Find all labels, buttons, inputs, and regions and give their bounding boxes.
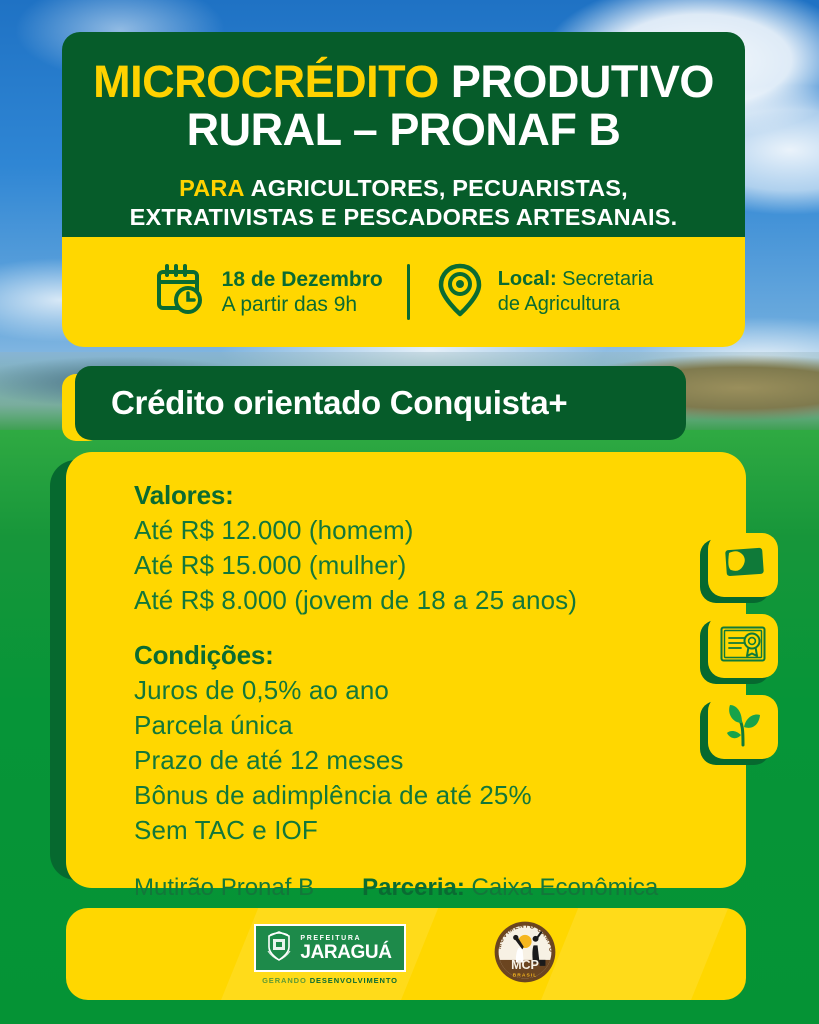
conditions-heading: Condições: xyxy=(134,640,712,671)
event-location-text: Local: Secretaria de Agricultura xyxy=(498,267,654,317)
credit-program-banner: Crédito orientado Conquista+ xyxy=(75,366,686,440)
seedling-icon xyxy=(722,703,764,752)
footer-logos-card: PREFEITURA JARAGUÁ GERANDO DESENVOLVIMEN… xyxy=(66,908,746,1000)
event-date-line2: A partir das 9h xyxy=(222,292,383,317)
partner-label: Parceria: xyxy=(362,874,465,901)
certificate-icon xyxy=(719,625,767,668)
conditions-line: Juros de 0,5% ao ano xyxy=(134,673,712,708)
page-subtitle: PARA AGRICULTORES, PECUARISTAS, EXTRATIV… xyxy=(88,174,719,232)
subtitle-highlight: PARA xyxy=(179,175,245,201)
jaragua-tagline: GERANDO DESENVOLVIMENTO xyxy=(254,976,405,985)
feature-icon-money xyxy=(700,533,778,603)
event-location-value: Secretaria xyxy=(557,268,654,290)
feature-icon-seedling xyxy=(700,695,778,765)
icon-chip-plate xyxy=(708,614,778,678)
values-line: Até R$ 12.000 (homem) xyxy=(134,513,712,548)
conditions-line: Bônus de adimplência de até 25% xyxy=(134,778,712,813)
event-location-line2: de Agricultura xyxy=(498,292,654,317)
event-location-block: Local: Secretaria de Agricultura xyxy=(410,262,678,323)
map-pin-icon xyxy=(434,262,486,323)
feature-icon-column xyxy=(700,533,778,776)
jaragua-coat-of-arms-icon xyxy=(266,931,292,966)
values-heading: Valores: xyxy=(134,480,712,511)
feature-icon-certificate xyxy=(700,614,778,684)
icon-chip-plate xyxy=(708,695,778,759)
values-line: Até R$ 8.000 (jovem de 18 a 25 anos) xyxy=(134,583,712,618)
main-card: Valores: Até R$ 12.000 (homem) Até R$ 15… xyxy=(66,452,746,888)
subtitle-line2: EXTRATIVISTAS E PESCADORES ARTESANAIS. xyxy=(130,204,678,230)
jaragua-logo-text: PREFEITURA JARAGUÁ xyxy=(300,935,391,962)
credit-program-banner-label: Crédito orientado Conquista+ xyxy=(111,384,567,422)
conditions-line: Sem TAC e IOF xyxy=(134,813,712,848)
poster: MICROCRÉDITO PRODUTIVO RURAL – PRONAF B … xyxy=(0,0,819,1024)
partner-value: Caixa Econômica xyxy=(465,874,658,901)
title-line2: RURAL – PRONAF B xyxy=(187,104,621,155)
main-card-footer: Mutirão Pronaf B Parceria: Caixa Econômi… xyxy=(134,874,712,902)
money-icon xyxy=(720,544,766,587)
event-date-block: 18 de Dezembro A partir das 9h xyxy=(130,262,407,323)
jaragua-logo: PREFEITURA JARAGUÁ GERANDO DESENVOLVIMEN… xyxy=(254,924,405,985)
mcp-acronym: MCP xyxy=(511,958,539,972)
jaragua-city-name: JARAGUÁ xyxy=(300,943,391,962)
event-info-bar: 18 de Dezembro A partir das 9h Local: Se… xyxy=(62,237,745,347)
jaragua-tagline-plain: GERANDO xyxy=(262,976,310,985)
program-name: Mutirão Pronaf B xyxy=(134,874,314,902)
page-title: MICROCRÉDITO PRODUTIVO RURAL – PRONAF B xyxy=(88,58,719,154)
bottom-band xyxy=(0,1000,819,1024)
jaragua-prefecture-label: PREFEITURA xyxy=(300,935,391,942)
mcp-country: BRASIL xyxy=(512,972,537,978)
event-location-label: Local: xyxy=(498,268,557,290)
conditions-line: Parcela única xyxy=(134,708,712,743)
subtitle-rest: AGRICULTORES, PECUARISTAS, xyxy=(245,175,628,201)
icon-chip-plate xyxy=(708,533,778,597)
event-date-line1: 18 de Dezembro xyxy=(222,267,383,292)
values-line: Até R$ 15.000 (mulher) xyxy=(134,548,712,583)
title-highlight: MICROCRÉDITO xyxy=(93,56,439,107)
conditions-line: Prazo de até 12 meses xyxy=(134,743,712,778)
event-location-line1: Local: Secretaria xyxy=(498,267,654,292)
partner-info: Parceria: Caixa Econômica xyxy=(362,874,658,902)
jaragua-tagline-bold: DESENVOLVIMENTO xyxy=(310,976,398,985)
event-date-text: 18 de Dezembro A partir das 9h xyxy=(222,267,383,317)
calendar-clock-icon xyxy=(154,262,210,323)
title-rest: PRODUTIVO xyxy=(439,56,714,107)
header-card: MICROCRÉDITO PRODUTIVO RURAL – PRONAF B … xyxy=(62,32,745,237)
section-spacer xyxy=(134,618,712,640)
jaragua-logo-box: PREFEITURA JARAGUÁ xyxy=(254,924,405,972)
mcp-logo: MOVIMENTO CAMPONÊS POPULAR MCP BRASIL xyxy=(492,919,558,990)
